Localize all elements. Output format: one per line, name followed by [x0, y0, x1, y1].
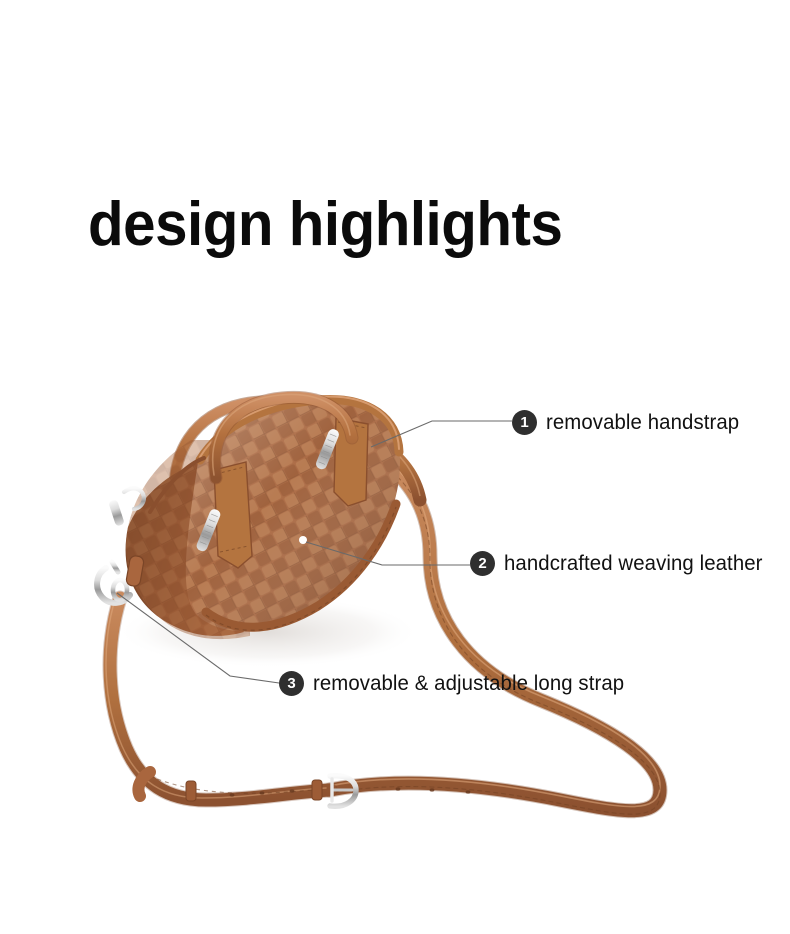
callout-1-label: removable handstrap [546, 411, 739, 435]
callout-3-label: removable & adjustable long strap [313, 672, 624, 696]
infographic-canvas: design highlights [0, 0, 790, 934]
callout-3-badge: 3 [279, 671, 304, 696]
callout-2: 2 handcrafted weaving leather [470, 551, 771, 576]
weave-anchor-dot [299, 536, 307, 544]
callout-3: 3 removable & adjustable long strap [279, 671, 634, 696]
callout-2-label: handcrafted weaving leather [504, 552, 763, 576]
callout-1: 1 removable handstrap [512, 410, 745, 435]
callout-2-badge: 2 [470, 551, 495, 576]
callout-1-badge: 1 [512, 410, 537, 435]
product-illustration [0, 0, 790, 934]
